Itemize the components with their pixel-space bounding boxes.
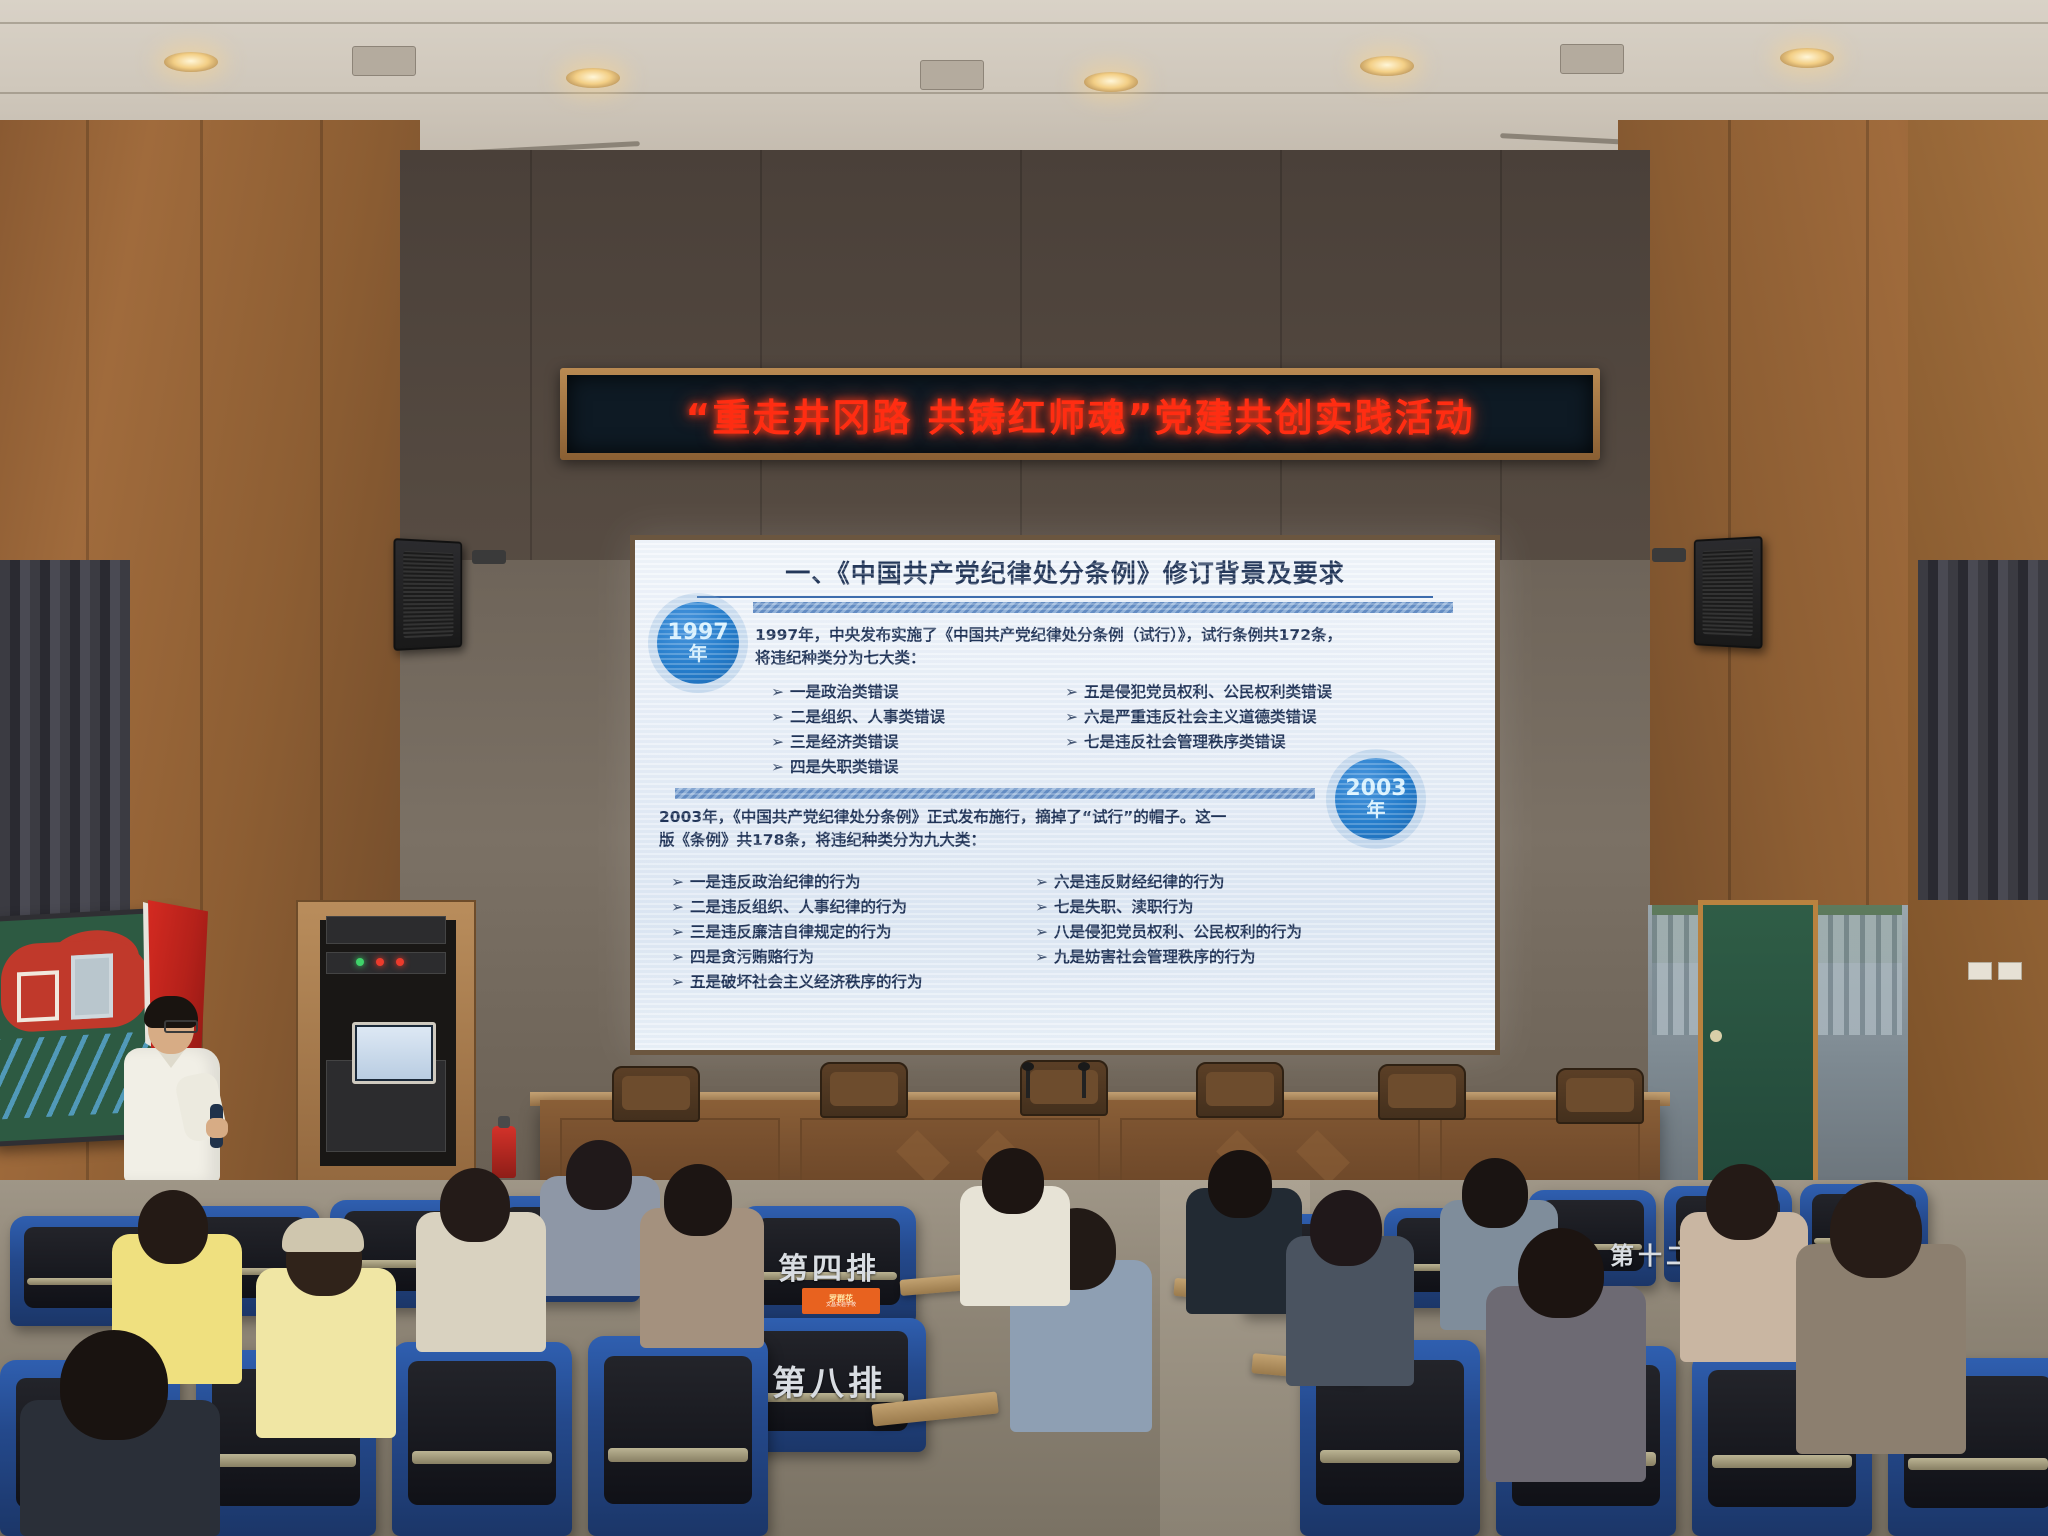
- bullet-arrow-icon: ➢: [671, 973, 684, 991]
- list-item-label: 六是严重违反社会主义道德类错误: [1084, 708, 1317, 726]
- audience-head: [440, 1168, 510, 1242]
- list-item: ➢三是经济类错误: [771, 730, 945, 755]
- badge-1997-unit: 年: [688, 645, 707, 665]
- head-table-chair[interactable]: [1196, 1062, 1284, 1118]
- table-microphone: [1082, 1068, 1086, 1098]
- row-sign-4: 第四排: [778, 1244, 880, 1288]
- paragraph-1997-line2: 将违纪种类分为七大类：: [755, 647, 1455, 670]
- ceiling-downlight: [1360, 56, 1414, 76]
- list-item-label: 五是破坏社会主义经济秩序的行为: [690, 973, 923, 991]
- bullet-arrow-icon: ➢: [1035, 948, 1048, 966]
- head-table-chair[interactable]: [1378, 1064, 1466, 1120]
- table-microphone: [1026, 1068, 1030, 1098]
- seat[interactable]: [392, 1342, 572, 1536]
- list-item: ➢五是侵犯党员权利、公民权利类错误: [1065, 680, 1332, 705]
- list-item: ➢一是违反政治纪律的行为: [671, 870, 923, 895]
- slide-title: 一、《中国共产党纪律处分条例》修订背景及要求: [657, 554, 1473, 590]
- paragraph-1997-line1: 1997年，中央发布实施了《中国共产党纪律处分条例（试行）》，试行条例共172条…: [755, 624, 1455, 647]
- list-item: ➢二是组织、人事类错误: [771, 705, 945, 730]
- list-item: ➢九是妨害社会管理秩序的行为: [1035, 945, 1302, 970]
- bullet-arrow-icon: ➢: [1035, 898, 1048, 916]
- badge-2003-unit: 年: [1366, 801, 1385, 821]
- auditorium-photo: “重走井冈路 共铸红师魂”党建共创实践活动 一、《中国共产党纪律处分条例》修订背…: [0, 0, 2048, 1536]
- ceiling-seam: [0, 92, 2048, 94]
- exit-door[interactable]: [1698, 900, 1818, 1190]
- air-vent: [352, 46, 416, 76]
- bullet-arrow-icon: ➢: [671, 948, 684, 966]
- bullet-arrow-icon: ➢: [771, 683, 784, 701]
- list-item: ➢六是违反财经纪律的行为: [1035, 870, 1302, 895]
- projection-screen: 一、《中国共产党纪律处分条例》修订背景及要求 1997 年 1997年，中央发布…: [630, 535, 1500, 1055]
- ceiling-seam: [0, 22, 2048, 24]
- bullet-arrow-icon: ➢: [1035, 923, 1048, 941]
- bullet-arrow-icon: ➢: [671, 898, 684, 916]
- status-led-green: [356, 958, 364, 966]
- list-item: ➢六是严重违反社会主义道德类错误: [1065, 705, 1332, 730]
- bullets-2003-right: ➢六是违反财经纪律的行为 ➢七是失职、渎职行为 ➢八是侵犯党员权利、公民权利的行…: [1035, 870, 1302, 970]
- list-item: ➢七是失职、渎职行为: [1035, 895, 1302, 920]
- list-item: ➢一是政治类错误: [771, 680, 945, 705]
- ceiling-downlight: [566, 68, 620, 88]
- fire-extinguisher: [492, 1126, 516, 1178]
- list-item: ➢五是破坏社会主义经济秩序的行为: [671, 970, 923, 995]
- list-item-label: 四是贪污贿赂行为: [690, 948, 814, 966]
- list-item-label: 九是妨害社会管理秩序的行为: [1054, 948, 1256, 966]
- wall-socket[interactable]: [1968, 962, 1992, 980]
- seat-name-tag: 罗群花 文昌实验学校: [802, 1288, 880, 1314]
- curtain-right: [1918, 560, 2048, 900]
- led-banner: “重走井冈路 共铸红师魂”党建共创实践活动: [560, 368, 1600, 460]
- wall-speaker-right: [1694, 536, 1763, 649]
- audience-head: [664, 1164, 732, 1236]
- glasses-icon: [164, 1020, 198, 1033]
- rack-device: [326, 916, 446, 944]
- badge-2003-year: 2003: [1345, 777, 1406, 800]
- wall-socket[interactable]: [1998, 962, 2022, 980]
- audience-head: [1830, 1182, 1922, 1278]
- list-item-label: 二是组织、人事类错误: [790, 708, 945, 726]
- name-tag-org: 文昌实验学校: [826, 1303, 856, 1308]
- list-item-label: 一是政治类错误: [790, 683, 899, 701]
- bullets-2003-left: ➢一是违反政治纪律的行为 ➢二是违反组织、人事纪律的行为 ➢三是违反廉洁自律规定…: [671, 870, 923, 996]
- list-item: ➢四是失职类错误: [771, 755, 945, 780]
- audience-head: [60, 1330, 168, 1440]
- curtain-left: [0, 560, 130, 960]
- bullet-arrow-icon: ➢: [771, 733, 784, 751]
- list-item-label: 五是侵犯党员权利、公民权利类错误: [1084, 683, 1332, 701]
- list-item-label: 三是经济类错误: [790, 733, 899, 751]
- bullet-arrow-icon: ➢: [1035, 873, 1048, 891]
- list-item-label: 八是侵犯党员权利、公民权利的行为: [1054, 923, 1302, 941]
- wall-speaker-left: [393, 538, 462, 651]
- title-underline: [697, 596, 1433, 598]
- ceiling-downlight: [1780, 48, 1834, 68]
- list-item-label: 三是违反廉洁自律规定的行为: [690, 923, 892, 941]
- paragraph-1997: 1997年，中央发布实施了《中国共产党纪律处分条例（试行）》，试行条例共172条…: [755, 624, 1455, 671]
- rack-device: [326, 952, 446, 974]
- status-led-red: [376, 958, 384, 966]
- bullet-arrow-icon: ➢: [771, 758, 784, 776]
- ceiling-downlight: [1084, 72, 1138, 92]
- bullet-arrow-icon: ➢: [1065, 733, 1078, 751]
- projection-surface: 一、《中国共产党纪律处分条例》修订背景及要求 1997 年 1997年，中央发布…: [635, 540, 1495, 1050]
- status-led-red: [396, 958, 404, 966]
- cap-icon: [282, 1218, 364, 1252]
- list-item: ➢七是违反社会管理秩序类错误: [1065, 730, 1332, 755]
- presenter-hand: [206, 1118, 228, 1138]
- list-item: ➢三是违反廉洁自律规定的行为: [671, 920, 923, 945]
- bullet-arrow-icon: ➢: [671, 923, 684, 941]
- audience-head: [566, 1140, 632, 1210]
- bullet-arrow-icon: ➢: [1065, 683, 1078, 701]
- led-screen: “重走井冈路 共铸红师魂”党建共创实践活动: [567, 375, 1593, 453]
- list-item-label: 二是违反组织、人事纪律的行为: [690, 898, 907, 916]
- paragraph-2003-line2: 版《条例》共178条，将违纪种类分为九大类：: [659, 829, 1349, 852]
- led-banner-text: “重走井冈路 共铸红师魂”党建共创实践活动: [685, 387, 1474, 442]
- air-vent: [920, 60, 984, 90]
- head-table-chair[interactable]: [1556, 1068, 1644, 1124]
- head-table-chair[interactable]: [820, 1062, 908, 1118]
- ceiling-downlight: [164, 52, 218, 72]
- door-handle-icon[interactable]: [1710, 1030, 1722, 1042]
- head-table-chair[interactable]: [612, 1066, 700, 1122]
- bullet-arrow-icon: ➢: [1065, 708, 1078, 726]
- ribbon-2003: [675, 788, 1315, 799]
- ribbon-1997: [753, 602, 1453, 613]
- audience-head: [1462, 1158, 1528, 1228]
- paragraph-2003: 2003年，《中国共产党纪律处分条例》正式发布施行，摘掉了“试行”的帽子。这一 …: [659, 806, 1349, 853]
- list-item-label: 一是违反政治纪律的行为: [690, 873, 861, 891]
- security-camera: [1652, 548, 1686, 562]
- security-camera: [472, 550, 506, 564]
- chalk-art-shape: [17, 970, 59, 1022]
- audience-head: [1310, 1190, 1382, 1266]
- list-item: ➢四是贪污贿赂行为: [671, 945, 923, 970]
- list-item-label: 七是失职、渎职行为: [1054, 898, 1194, 916]
- air-vent: [1560, 44, 1624, 74]
- bullet-arrow-icon: ➢: [671, 873, 684, 891]
- control-monitor[interactable]: [352, 1022, 436, 1084]
- list-item: ➢八是侵犯党员权利、公民权利的行为: [1035, 920, 1302, 945]
- chalk-art-shape: [71, 953, 113, 1019]
- audience-head: [1706, 1164, 1778, 1240]
- list-item-label: 六是违反财经纪律的行为: [1054, 873, 1225, 891]
- audience-head: [1208, 1150, 1272, 1218]
- bullets-1997-left: ➢一是政治类错误 ➢二是组织、人事类错误 ➢三是经济类错误 ➢四是失职类错误: [771, 680, 945, 780]
- list-item-label: 四是失职类错误: [790, 758, 899, 776]
- paragraph-2003-line1: 2003年，《中国共产党纪律处分条例》正式发布施行，摘掉了“试行”的帽子。这一: [659, 806, 1349, 829]
- badge-1997-year: 1997: [667, 621, 728, 644]
- bullet-arrow-icon: ➢: [771, 708, 784, 726]
- list-item: ➢二是违反组织、人事纪律的行为: [671, 895, 923, 920]
- seat[interactable]: [588, 1336, 768, 1536]
- audience-head: [1518, 1228, 1604, 1318]
- monitor-screen: [357, 1027, 431, 1079]
- row-sign-8: 第八排: [772, 1356, 886, 1405]
- bullets-1997-right: ➢五是侵犯党员权利、公民权利类错误 ➢六是严重违反社会主义道德类错误 ➢七是违反…: [1065, 680, 1332, 755]
- presenter: [118, 1000, 226, 1180]
- list-item-label: 七是违反社会管理秩序类错误: [1084, 733, 1286, 751]
- audience-head: [138, 1190, 208, 1264]
- audience-head: [982, 1148, 1044, 1214]
- badge-1997: 1997 年: [657, 602, 739, 684]
- slide-content: 一、《中国共产党纪律处分条例》修订背景及要求 1997 年 1997年，中央发布…: [635, 540, 1495, 1050]
